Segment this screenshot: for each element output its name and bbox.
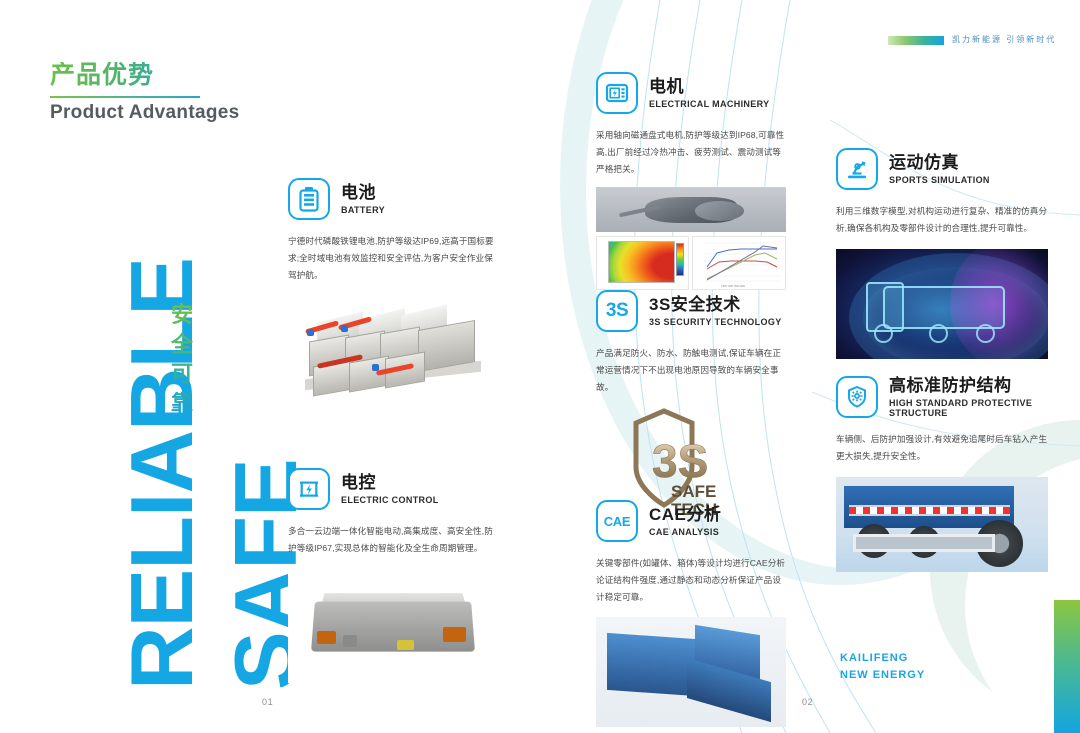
electric-control-unit-photo (288, 571, 498, 683)
motor-icon (596, 72, 638, 114)
feature-electric-control-title-cn: 电控 (341, 473, 439, 493)
feature-cae-title-en: CAE ANALYSIS (649, 527, 721, 537)
svg-text:3S: 3S (652, 435, 708, 487)
digital-twin-truck-render (836, 249, 1048, 359)
feature-3s-header: 3S 3S安全技术 3S SECURITY TECHNOLOGY (596, 290, 786, 332)
feature-motor-desc: 采用轴向磁通盘式电机,防护等级达到IP68,可靠性高,出厂前经过冷热冲击、疲劳测… (596, 127, 786, 177)
feature-motor-header: 电机 ELECTRICAL MACHINERY (596, 72, 786, 114)
feature-sim-desc: 利用三维数字模型,对机构运动进行复杂、精准的仿真分析,确保各机构及零部件设计的合… (836, 203, 1048, 237)
feature-sim-title-cn: 运动仿真 (889, 153, 990, 173)
left-page: 产品优势 Product Advantages RELIABLE SAFE 安全… (0, 0, 540, 733)
feature-sim-header: 运动仿真 SPORTS SIMULATION (836, 148, 1048, 190)
feature-3s-desc: 产品满足防火、防水、防触电测试,保证车辆在正常运营情况下不出现电池原因导致的车辆… (596, 345, 786, 395)
feature-electric-control: 电控 ELECTRIC CONTROL 多合一云边端一体化智能电动,高集成度、高… (288, 468, 498, 683)
feature-electric-control-titles: 电控 ELECTRIC CONTROL (341, 473, 439, 505)
vertical-headline-cn: 安全可靠 (170, 300, 194, 419)
cae-icon-text: CAE (604, 514, 631, 529)
shield-gear-icon (836, 376, 878, 418)
feature-protection-header: 高标准防护结构 HIGH STANDARD PROTECTIVE STRUCTU… (836, 376, 1048, 418)
feature-3s-titles: 3S安全技术 3S SECURITY TECHNOLOGY (649, 295, 782, 327)
cae-model-render (596, 617, 786, 727)
feature-electric-control-desc: 多合一云边端一体化智能电动,高集成度、高安全性,防护等级IP67,实现总体的智能… (288, 523, 498, 557)
3s-icon: 3S (596, 290, 638, 332)
feature-cae-header: CAE CAE分析 CAE ANALYSIS (596, 500, 786, 542)
battery-icon (288, 178, 330, 220)
feature-motor-title-cn: 电机 (649, 77, 770, 97)
feature-protection-title-en: HIGH STANDARD PROTECTIVE STRUCTURE (889, 398, 1048, 418)
feature-motor-title-en: ELECTRICAL MACHINERY (649, 99, 770, 109)
feature-battery-title-cn: 电池 (341, 183, 385, 203)
feature-3s-security: 3S 3S安全技术 3S SECURITY TECHNOLOGY 产品满足防火、… (596, 290, 786, 533)
feature-sports-simulation: 运动仿真 SPORTS SIMULATION 利用三维数字模型,对机构运动进行复… (836, 148, 1048, 359)
motor-efficiency-map-and-curves: 0 500 1000 1500 2000 (596, 236, 786, 290)
feature-motor: 电机 ELECTRICAL MACHINERY 采用轴向磁通盘式电机,防护等级达… (596, 72, 786, 290)
feature-battery-header: 电池 BATTERY (288, 178, 498, 220)
performance-line-chart: 0 500 1000 1500 2000 (692, 236, 786, 290)
page-number-right: 02 (802, 697, 813, 707)
efficiency-contour-chart (596, 236, 689, 290)
header-gradient-bar (888, 36, 944, 45)
3s-icon-text: 3S (606, 300, 628, 322)
brand-line-1: KAILIFENG (840, 650, 925, 667)
feature-3s-title-cn: 3S安全技术 (649, 295, 782, 315)
feature-battery: 电池 BATTERY 宁德时代磷酸铁锂电池,防护等级达IP69,远高于国标要求;… (288, 178, 498, 423)
feature-3s-title-en: 3S SECURITY TECHNOLOGY (649, 317, 782, 327)
robot-arm-icon (836, 148, 878, 190)
feature-electric-control-title-en: ELECTRIC CONTROL (341, 495, 439, 505)
brochure-spread: 凯力新能源 引领新时代 产品优势 Product Advantages RELI… (0, 0, 1080, 733)
feature-protection-title-cn: 高标准防护结构 (889, 376, 1048, 396)
feature-battery-titles: 电池 BATTERY (341, 183, 385, 215)
feature-sim-titles: 运动仿真 SPORTS SIMULATION (889, 153, 990, 185)
svg-text:0 500 1000 1500 2000: 0 500 1000 1500 2000 (721, 285, 746, 288)
header-slogan: 凯力新能源 引领新时代 (952, 34, 1056, 45)
battery-pack-photo (288, 297, 498, 423)
feature-motor-titles: 电机 ELECTRICAL MACHINERY (649, 77, 770, 109)
feature-protective-structure: 高标准防护结构 HIGH STANDARD PROTECTIVE STRUCTU… (836, 376, 1048, 572)
feature-protection-desc: 车辆侧、后防护加强设计,有效避免追尾时后车钻入产生更大损失,提升安全性。 (836, 431, 1048, 465)
brand-gradient-bar (1054, 600, 1080, 733)
svg-text:SAFE: SAFE (671, 482, 716, 501)
feature-cae-title-cn: CAE分析 (649, 505, 721, 525)
feature-cae-desc: 关键零部件(如罐体、箱体)等设计均进行CAE分析论证结构件强度,通过静态和动态分… (596, 555, 786, 605)
axial-flux-motor-photo (596, 187, 786, 232)
brand-wordmark: KAILIFENG NEW ENERGY (840, 650, 925, 683)
cae-icon: CAE (596, 500, 638, 542)
feature-cae: CAE CAE分析 CAE ANALYSIS 关键零部件(如罐体、箱体)等设计均… (596, 500, 786, 727)
feature-sim-title-en: SPORTS SIMULATION (889, 175, 990, 185)
brand-line-2: NEW ENERGY (840, 667, 925, 684)
feature-battery-desc: 宁德时代磷酸铁锂电池,防护等级达IP69,远高于国标要求;全时域电池有效监控和安… (288, 233, 498, 283)
vertical-headline-group: RELIABLE SAFE 安全可靠 (0, 0, 260, 733)
feature-cae-titles: CAE分析 CAE ANALYSIS (649, 505, 721, 537)
electric-control-icon (288, 468, 330, 510)
truck-rear-protection-photo (836, 477, 1048, 572)
feature-electric-control-header: 电控 ELECTRIC CONTROL (288, 468, 498, 510)
feature-battery-title-en: BATTERY (341, 205, 385, 215)
page-number-left: 01 (262, 697, 273, 707)
feature-protection-titles: 高标准防护结构 HIGH STANDARD PROTECTIVE STRUCTU… (889, 376, 1048, 418)
